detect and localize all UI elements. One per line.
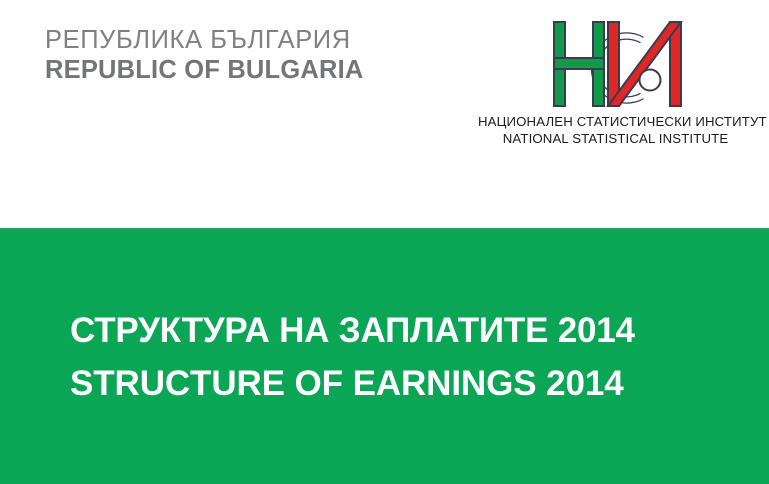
publication-title-english: STRUCTURE OF EARNINGS 2014	[70, 357, 730, 410]
country-identity-block: РЕПУБЛИКА БЪЛГАРИЯ REPUBLIC OF BULGARIA	[45, 25, 445, 86]
publication-cover: РЕПУБЛИКА БЪЛГАРИЯ REPUBLIC OF BULGARIA	[0, 0, 769, 484]
country-name-bulgarian: РЕПУБЛИКА БЪЛГАРИЯ	[45, 25, 445, 55]
country-name-english: REPUBLIC OF BULGARIA	[45, 55, 445, 86]
cover-title-banner: СТРУКТУРА НА ЗАПЛАТИТЕ 2014 STRUCTURE OF…	[0, 228, 769, 484]
institute-name-english: NATIONAL STATISTICAL INSTITUTE	[478, 130, 753, 147]
cover-title-block: СТРУКТУРА НА ЗАПЛАТИТЕ 2014 STRUCTURE OF…	[70, 304, 730, 410]
banner-top-rule	[0, 228, 769, 230]
nsi-logo-wordmark: НАЦИОНАЛЕН СТАТИСТИЧЕСКИ ИНСТИТУТ NATION…	[478, 113, 753, 147]
institute-name-bulgarian: НАЦИОНАЛЕН СТАТИСТИЧЕСКИ ИНСТИТУТ	[478, 113, 753, 130]
cover-header: РЕПУБЛИКА БЪЛГАРИЯ REPUBLIC OF BULGARIA	[0, 0, 769, 228]
publication-title-bulgarian: СТРУКТУРА НА ЗАПЛАТИТЕ 2014	[70, 304, 730, 357]
nsi-logo-mark	[548, 18, 690, 110]
nsi-logo: НАЦИОНАЛЕН СТАТИСТИЧЕСКИ ИНСТИТУТ NATION…	[478, 18, 753, 158]
